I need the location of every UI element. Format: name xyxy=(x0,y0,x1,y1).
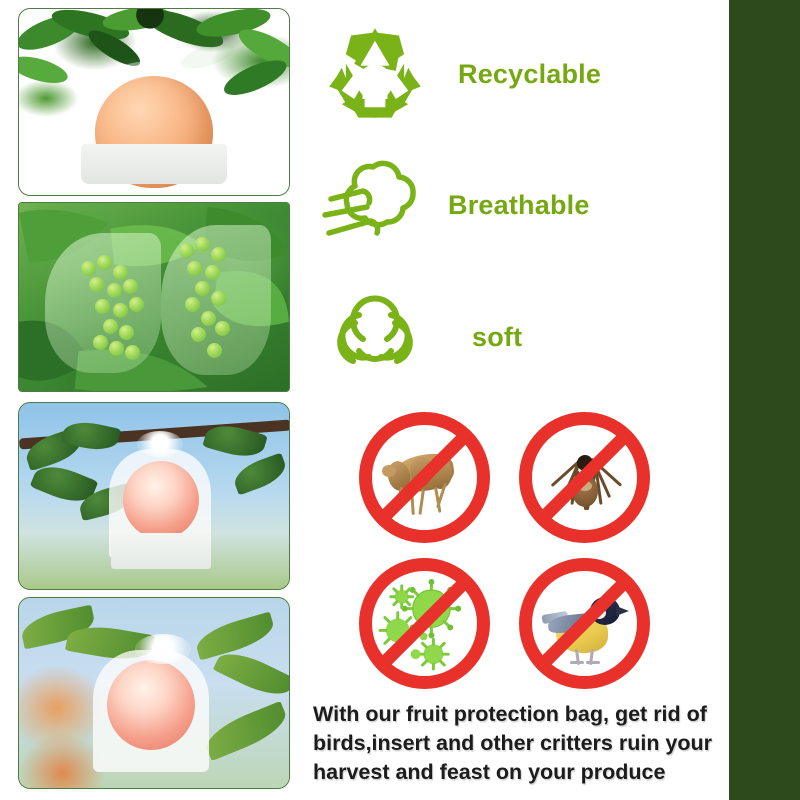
no-bird-icon xyxy=(504,550,664,696)
recycle-icon xyxy=(310,22,440,126)
caption-line-1: With our fruit protection bag, get rid o… xyxy=(313,700,723,729)
photo-citrus-in-mesh-bag: Orange citrus fruit inside a white mesh … xyxy=(18,8,290,196)
photo-3-content xyxy=(19,403,289,589)
product-infographic: Orange citrus fruit inside a white mesh … xyxy=(0,0,800,800)
mesh-bag-base xyxy=(81,144,227,184)
photo-peach-leaves: Peach wrapped in a white mesh bag surrou… xyxy=(18,597,290,789)
no-spider-icon xyxy=(504,404,664,550)
peach-fruit xyxy=(107,660,195,750)
photo-peach-in-mesh-bag: Red peach in a white drawstring mesh bag… xyxy=(18,402,290,590)
cloud-icon xyxy=(310,287,440,387)
right-color-band xyxy=(729,0,800,800)
product-caption: With our fruit protection bag, get rid o… xyxy=(313,700,723,787)
feature-soft: soft xyxy=(310,282,522,392)
feature-label-soft: soft xyxy=(472,322,522,353)
feature-label-breathable: Breathable xyxy=(448,190,590,221)
feature-list: Recyclable Breathable xyxy=(310,0,729,800)
cloud-icon-svg xyxy=(319,287,431,387)
recycle-icon-svg xyxy=(323,22,427,126)
no-flea-icon xyxy=(344,404,504,550)
photo-2-content xyxy=(19,203,289,391)
no-virus-icon xyxy=(344,550,504,696)
feature-recyclable: Recyclable xyxy=(310,20,601,128)
wind-cloud-icon-svg xyxy=(319,153,431,257)
prohibition-icon-grid xyxy=(344,404,664,696)
product-photo-column: Orange citrus fruit inside a white mesh … xyxy=(0,0,308,800)
bag-drawstring xyxy=(137,431,183,457)
photo-grapes-in-mesh-bag: Bunches of green grapes covered with mes… xyxy=(18,202,290,392)
feature-label-recyclable: Recyclable xyxy=(458,59,601,90)
bag-drawstring xyxy=(135,634,191,664)
caption-line-2: birds,insert and other critters ruin you… xyxy=(313,729,723,758)
photo-1-content xyxy=(19,9,289,195)
feature-breathable: Breathable xyxy=(310,150,590,260)
peach-fruit xyxy=(123,461,199,539)
photo-4-content xyxy=(19,598,289,788)
caption-line-3: harvest and feast on your produce xyxy=(313,758,723,787)
wind-cloud-icon xyxy=(310,153,440,257)
